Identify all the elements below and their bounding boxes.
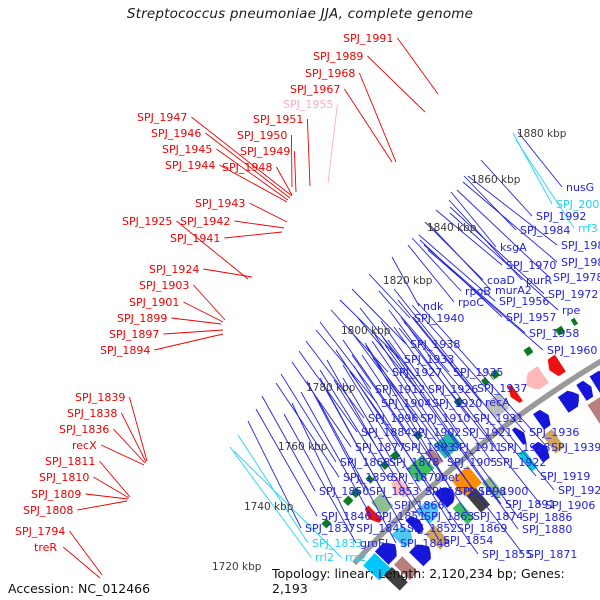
- gene-label-spj_1912[interactable]: SPJ_1912: [375, 384, 425, 395]
- label-leader: [344, 89, 392, 162]
- gene-feature[interactable]: [524, 346, 534, 356]
- gene-label-reca[interactable]: recA: [485, 397, 510, 408]
- label-leader: [408, 245, 454, 302]
- gene-label-spj_1927[interactable]: SPJ_1927: [392, 367, 442, 378]
- gene-label-groel[interactable]: groEL: [360, 538, 391, 549]
- gene-label-spj_1931[interactable]: SPJ_1931: [473, 413, 523, 424]
- gene-label-spj_1944[interactable]: SPJ_1944: [165, 160, 215, 171]
- gene-label-spj_1878[interactable]: SPJ_1878: [389, 457, 439, 468]
- label-leader: [224, 232, 282, 238]
- label-leader: [481, 160, 532, 216]
- gene-label-spj_1852[interactable]: SPJ_1852: [407, 523, 457, 534]
- gene-label-spj_1985[interactable]: SPJ_1985: [561, 240, 600, 251]
- gene-label-spj_1941[interactable]: SPJ_1941: [170, 233, 220, 244]
- gene-label-spj_1901[interactable]: SPJ_1901: [129, 297, 179, 308]
- gene-label-spj_1896[interactable]: SPJ_1896: [368, 413, 418, 424]
- scale-tick-label: 1740 kbp: [244, 502, 293, 513]
- gene-label-spj_1880[interactable]: SPJ_1880: [522, 524, 572, 535]
- gene-label-trer[interactable]: treR: [34, 542, 57, 553]
- gene-label-spj_1938[interactable]: SPJ_1938: [410, 339, 460, 350]
- gene-label-spj_1992[interactable]: SPJ_1992: [536, 211, 586, 222]
- gene-label-spj_1957[interactable]: SPJ_1957: [506, 312, 556, 323]
- gene-label-spj_1955[interactable]: SPJ_1955: [283, 99, 333, 110]
- scale-tick-label: 1720 kbp: [212, 562, 261, 573]
- label-leader: [77, 501, 127, 510]
- gene-label-spj_1933[interactable]: SPJ_1933: [404, 354, 454, 365]
- gene-feature[interactable]: [558, 391, 579, 413]
- gene-label-spj_1919[interactable]: SPJ_1919: [540, 471, 590, 482]
- scale-tick-label: 1880 kbp: [517, 129, 566, 140]
- gene-label-spj_1839[interactable]: SPJ_1839: [75, 392, 125, 403]
- gene-label-spj_1984[interactable]: SPJ_1984: [520, 225, 570, 236]
- gene-label-bet[interactable]: bet: [441, 472, 459, 483]
- label-leader: [93, 477, 129, 498]
- gene-label-spj_1922[interactable]: SPJ_1922: [496, 457, 546, 468]
- gene-label-spj_1905[interactable]: SPJ_1905: [447, 457, 497, 468]
- label-leader: [183, 302, 223, 322]
- gene-label-spj_1951[interactable]: SPJ_1951: [253, 114, 303, 125]
- gene-label-spj_1946[interactable]: SPJ_1946: [151, 128, 201, 139]
- gene-label-spj_1910[interactable]: SPJ_1910: [420, 413, 470, 424]
- gene-label-spj_1981[interactable]: SPJ_1981: [561, 257, 600, 268]
- gene-label-spj_1967[interactable]: SPJ_1967: [290, 84, 340, 95]
- gene-label-spj_1968[interactable]: SPJ_1968: [305, 68, 355, 79]
- gene-label-recx[interactable]: recX: [72, 440, 97, 451]
- gene-label-spj_1925[interactable]: SPJ_1925: [122, 216, 172, 227]
- gene-label-spj_1947[interactable]: SPJ_1947: [137, 112, 187, 123]
- label-leader: [307, 119, 310, 186]
- gene-label-spj_1845[interactable]: SPJ_1845: [356, 523, 406, 534]
- label-leader: [203, 269, 252, 277]
- gene-label-rrs2[interactable]: rrs2: [345, 552, 367, 563]
- gene-label-spj_1894[interactable]: SPJ_1894: [100, 345, 150, 356]
- gene-label-spj_1911[interactable]: SPJ_1911: [452, 442, 502, 453]
- scale-tick-label: 1780 kbp: [306, 383, 355, 394]
- gene-label-spj_1903[interactable]: SPJ_1903: [139, 280, 189, 291]
- gene-label-spj_1879[interactable]: SPJ_1879: [425, 486, 475, 497]
- gene-label-spj_1978[interactable]: SPJ_1978: [553, 272, 600, 283]
- gene-label-spj_1884[interactable]: SPJ_1884: [361, 427, 411, 438]
- gene-label-spj_1809[interactable]: SPJ_1809: [31, 489, 81, 500]
- label-leader: [163, 330, 223, 334]
- genome-viewer[interactable]: Streptococcus pneumoniae JJA, complete g…: [0, 0, 600, 600]
- gene-label-rpoc[interactable]: rpoC: [458, 297, 484, 308]
- label-leader: [234, 221, 284, 228]
- label-leader: [63, 547, 100, 578]
- gene-feature[interactable]: [527, 366, 549, 389]
- label-leader: [328, 104, 337, 183]
- label-leader: [171, 318, 221, 324]
- label-leader: [292, 362, 351, 447]
- gene-label-rrl2[interactable]: rrl2: [315, 552, 334, 563]
- label-leader: [249, 203, 287, 222]
- gene-label-spj_1936[interactable]: SPJ_1936: [529, 427, 579, 438]
- gene-label-spj_1856[interactable]: SPJ_1856: [343, 472, 393, 483]
- gene-label-spj_1923[interactable]: SPJ_1923: [558, 485, 600, 496]
- label-leader: [294, 151, 296, 192]
- gene-label-spj_1854[interactable]: SPJ_1854: [443, 535, 493, 546]
- gene-label-spj_1853[interactable]: SPJ_1853: [369, 486, 419, 497]
- label-leader: [256, 409, 317, 516]
- gene-label-spj_1846[interactable]: SPJ_1846: [321, 511, 371, 522]
- label-leader: [291, 135, 292, 187]
- gene-feature[interactable]: [588, 396, 600, 423]
- gene-label-spj_1871[interactable]: SPJ_1871: [527, 549, 577, 560]
- gene-label-spj_1937[interactable]: SPJ_1937: [477, 383, 527, 394]
- gene-label-spj_1900[interactable]: SPJ_1900: [478, 486, 528, 497]
- label-leader: [121, 413, 146, 462]
- gene-label-spj_1902[interactable]: SPJ_1902: [411, 427, 461, 438]
- gene-label-spj_1989[interactable]: SPJ_1989: [313, 51, 363, 62]
- gene-label-spj_1970[interactable]: SPJ_1970: [506, 260, 556, 271]
- gene-label-spj_1794[interactable]: SPJ_1794: [15, 526, 65, 537]
- label-leader: [436, 210, 502, 265]
- gene-label-spj_1958[interactable]: SPJ_1958: [529, 328, 579, 339]
- scale-tick-label: 1800 kbp: [341, 326, 390, 337]
- gene-label-spj_1935[interactable]: SPJ_1935: [453, 367, 503, 378]
- gene-label-spj_1886[interactable]: SPJ_1886: [522, 512, 572, 523]
- gene-label-spj_1956[interactable]: SPJ_1956: [499, 296, 549, 307]
- gene-label-rrf3[interactable]: rrf3: [578, 223, 598, 234]
- gene-label-spj_1874[interactable]: SPJ_1874: [473, 511, 523, 522]
- gene-label-spj_1920[interactable]: SPJ_1920: [432, 398, 482, 409]
- gene-label-spj_1808[interactable]: SPJ_1808: [23, 505, 73, 516]
- gene-label-ndk[interactable]: ndk: [423, 301, 443, 312]
- gene-label-spj_1949[interactable]: SPJ_1949: [240, 146, 290, 157]
- gene-label-spj_1893[interactable]: SPJ_1893: [404, 442, 454, 453]
- gene-label-spj_1868[interactable]: SPJ_1868: [340, 457, 390, 468]
- gene-label-spj_1906[interactable]: SPJ_1906: [545, 500, 595, 511]
- gene-label-ksga[interactable]: ksgA: [500, 242, 527, 253]
- label-leader: [518, 132, 562, 187]
- gene-label-spj_1836[interactable]: SPJ_1836: [59, 424, 109, 435]
- label-leader: [129, 397, 147, 461]
- gene-feature[interactable]: [548, 355, 566, 376]
- label-leader: [99, 461, 130, 497]
- gene-label-spj_1924[interactable]: SPJ_1924: [149, 264, 199, 275]
- accession-text: Accession: NC_012466: [8, 581, 150, 596]
- gene-label-spj_1945[interactable]: SPJ_1945: [162, 144, 212, 155]
- scale-tick-label: 1860 kbp: [471, 175, 520, 186]
- gene-label-spj_1877[interactable]: SPJ_1877: [355, 442, 405, 453]
- gene-label-spj_1869[interactable]: SPJ_1869: [457, 523, 507, 534]
- gene-label-spj_1863[interactable]: SPJ_1863: [424, 511, 474, 522]
- genome-stats-text: Topology: linear; Length: 2,120,234 bp; …: [272, 566, 600, 596]
- scale-tick-label: 1820 kbp: [383, 276, 432, 287]
- gene-label-spj_1960[interactable]: SPJ_1960: [547, 345, 597, 356]
- gene-label-spj_1939[interactable]: SPJ_1939: [551, 442, 600, 453]
- gene-label-spj_1855[interactable]: SPJ_1855: [482, 549, 532, 560]
- label-leader: [85, 494, 128, 499]
- gene-label-spj_1837[interactable]: SPJ_1837: [305, 523, 355, 534]
- gene-label-spj_1850[interactable]: SPJ_1850: [319, 486, 369, 497]
- gene-label-spj_1926[interactable]: SPJ_1926: [428, 384, 478, 395]
- label-leader: [276, 167, 292, 195]
- gene-label-spj_1897[interactable]: SPJ_1897: [109, 329, 159, 340]
- gene-label-spj_1904[interactable]: SPJ_1904: [381, 398, 431, 409]
- scale-tick-label: 1840 kbp: [427, 223, 476, 234]
- gene-label-spj_1942[interactable]: SPJ_1942: [180, 216, 230, 227]
- gene-label-spj_1948[interactable]: SPJ_1948: [222, 162, 272, 173]
- gene-label-spj_1811[interactable]: SPJ_1811: [45, 456, 95, 467]
- gene-label-spj_1810[interactable]: SPJ_1810: [39, 472, 89, 483]
- gene-label-spj_1870[interactable]: SPJ_1870: [391, 472, 441, 483]
- scale-tick-label: 1760 kbp: [278, 442, 327, 453]
- gene-label-spj_1950[interactable]: SPJ_1950: [237, 130, 287, 141]
- gene-label-rpe[interactable]: rpe: [562, 305, 580, 316]
- gene-feature[interactable]: [571, 318, 578, 326]
- gene-label-spj_1838[interactable]: SPJ_1838: [67, 408, 117, 419]
- gene-label-spj_1928[interactable]: SPJ_1928: [500, 442, 550, 453]
- label-leader: [359, 73, 396, 162]
- label-leader: [69, 531, 102, 575]
- gene-label-spj_1940[interactable]: SPJ_1940: [414, 313, 464, 324]
- gene-label-nusg[interactable]: nusG: [566, 182, 594, 193]
- gene-label-spj_1943[interactable]: SPJ_1943: [195, 198, 245, 209]
- gene-label-spj_1899[interactable]: SPJ_1899: [117, 313, 167, 324]
- gene-label-spj_1833[interactable]: SPJ_1833: [312, 538, 362, 549]
- label-leader: [154, 334, 223, 350]
- gene-label-spj_1851[interactable]: SPJ_1851: [375, 511, 425, 522]
- gene-label-spj_2000[interactable]: SPJ_2000: [556, 199, 600, 210]
- gene-label-spj_1921[interactable]: SPJ_1921: [462, 427, 512, 438]
- gene-label-spj_1991[interactable]: SPJ_1991: [343, 33, 393, 44]
- gene-label-spj_1972[interactable]: SPJ_1972: [548, 289, 598, 300]
- label-leader: [397, 38, 438, 94]
